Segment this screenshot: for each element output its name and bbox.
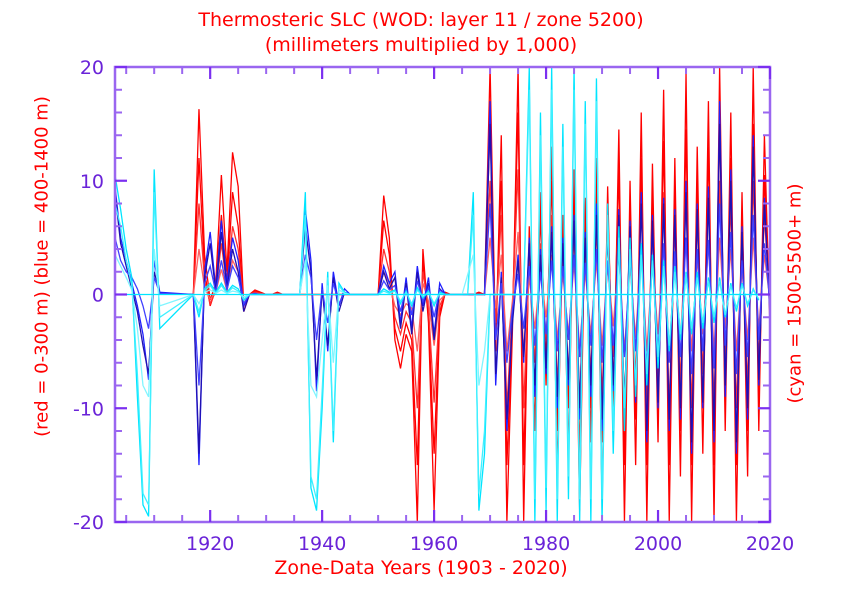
y-tick-label: 0 (92, 285, 104, 307)
series-layer (115, 67, 770, 522)
y-tick-label: -20 (73, 512, 104, 534)
y-tick-label: 10 (80, 171, 104, 193)
plot-area: 192019401960198020002020-20-1001020 (0, 0, 842, 595)
chart-figure: Thermosteric SLC (WOD: layer 11 / zone 5… (0, 0, 842, 595)
x-tick-label: 1980 (522, 533, 570, 555)
x-tick-label: 1960 (410, 533, 458, 555)
x-tick-label: 2000 (634, 533, 682, 555)
y-tick-label: -10 (73, 398, 104, 420)
x-tick-label: 2020 (746, 533, 794, 555)
x-tick-label: 1940 (298, 533, 346, 555)
y-tick-label: 20 (80, 57, 104, 79)
x-tick-label: 1920 (186, 533, 234, 555)
